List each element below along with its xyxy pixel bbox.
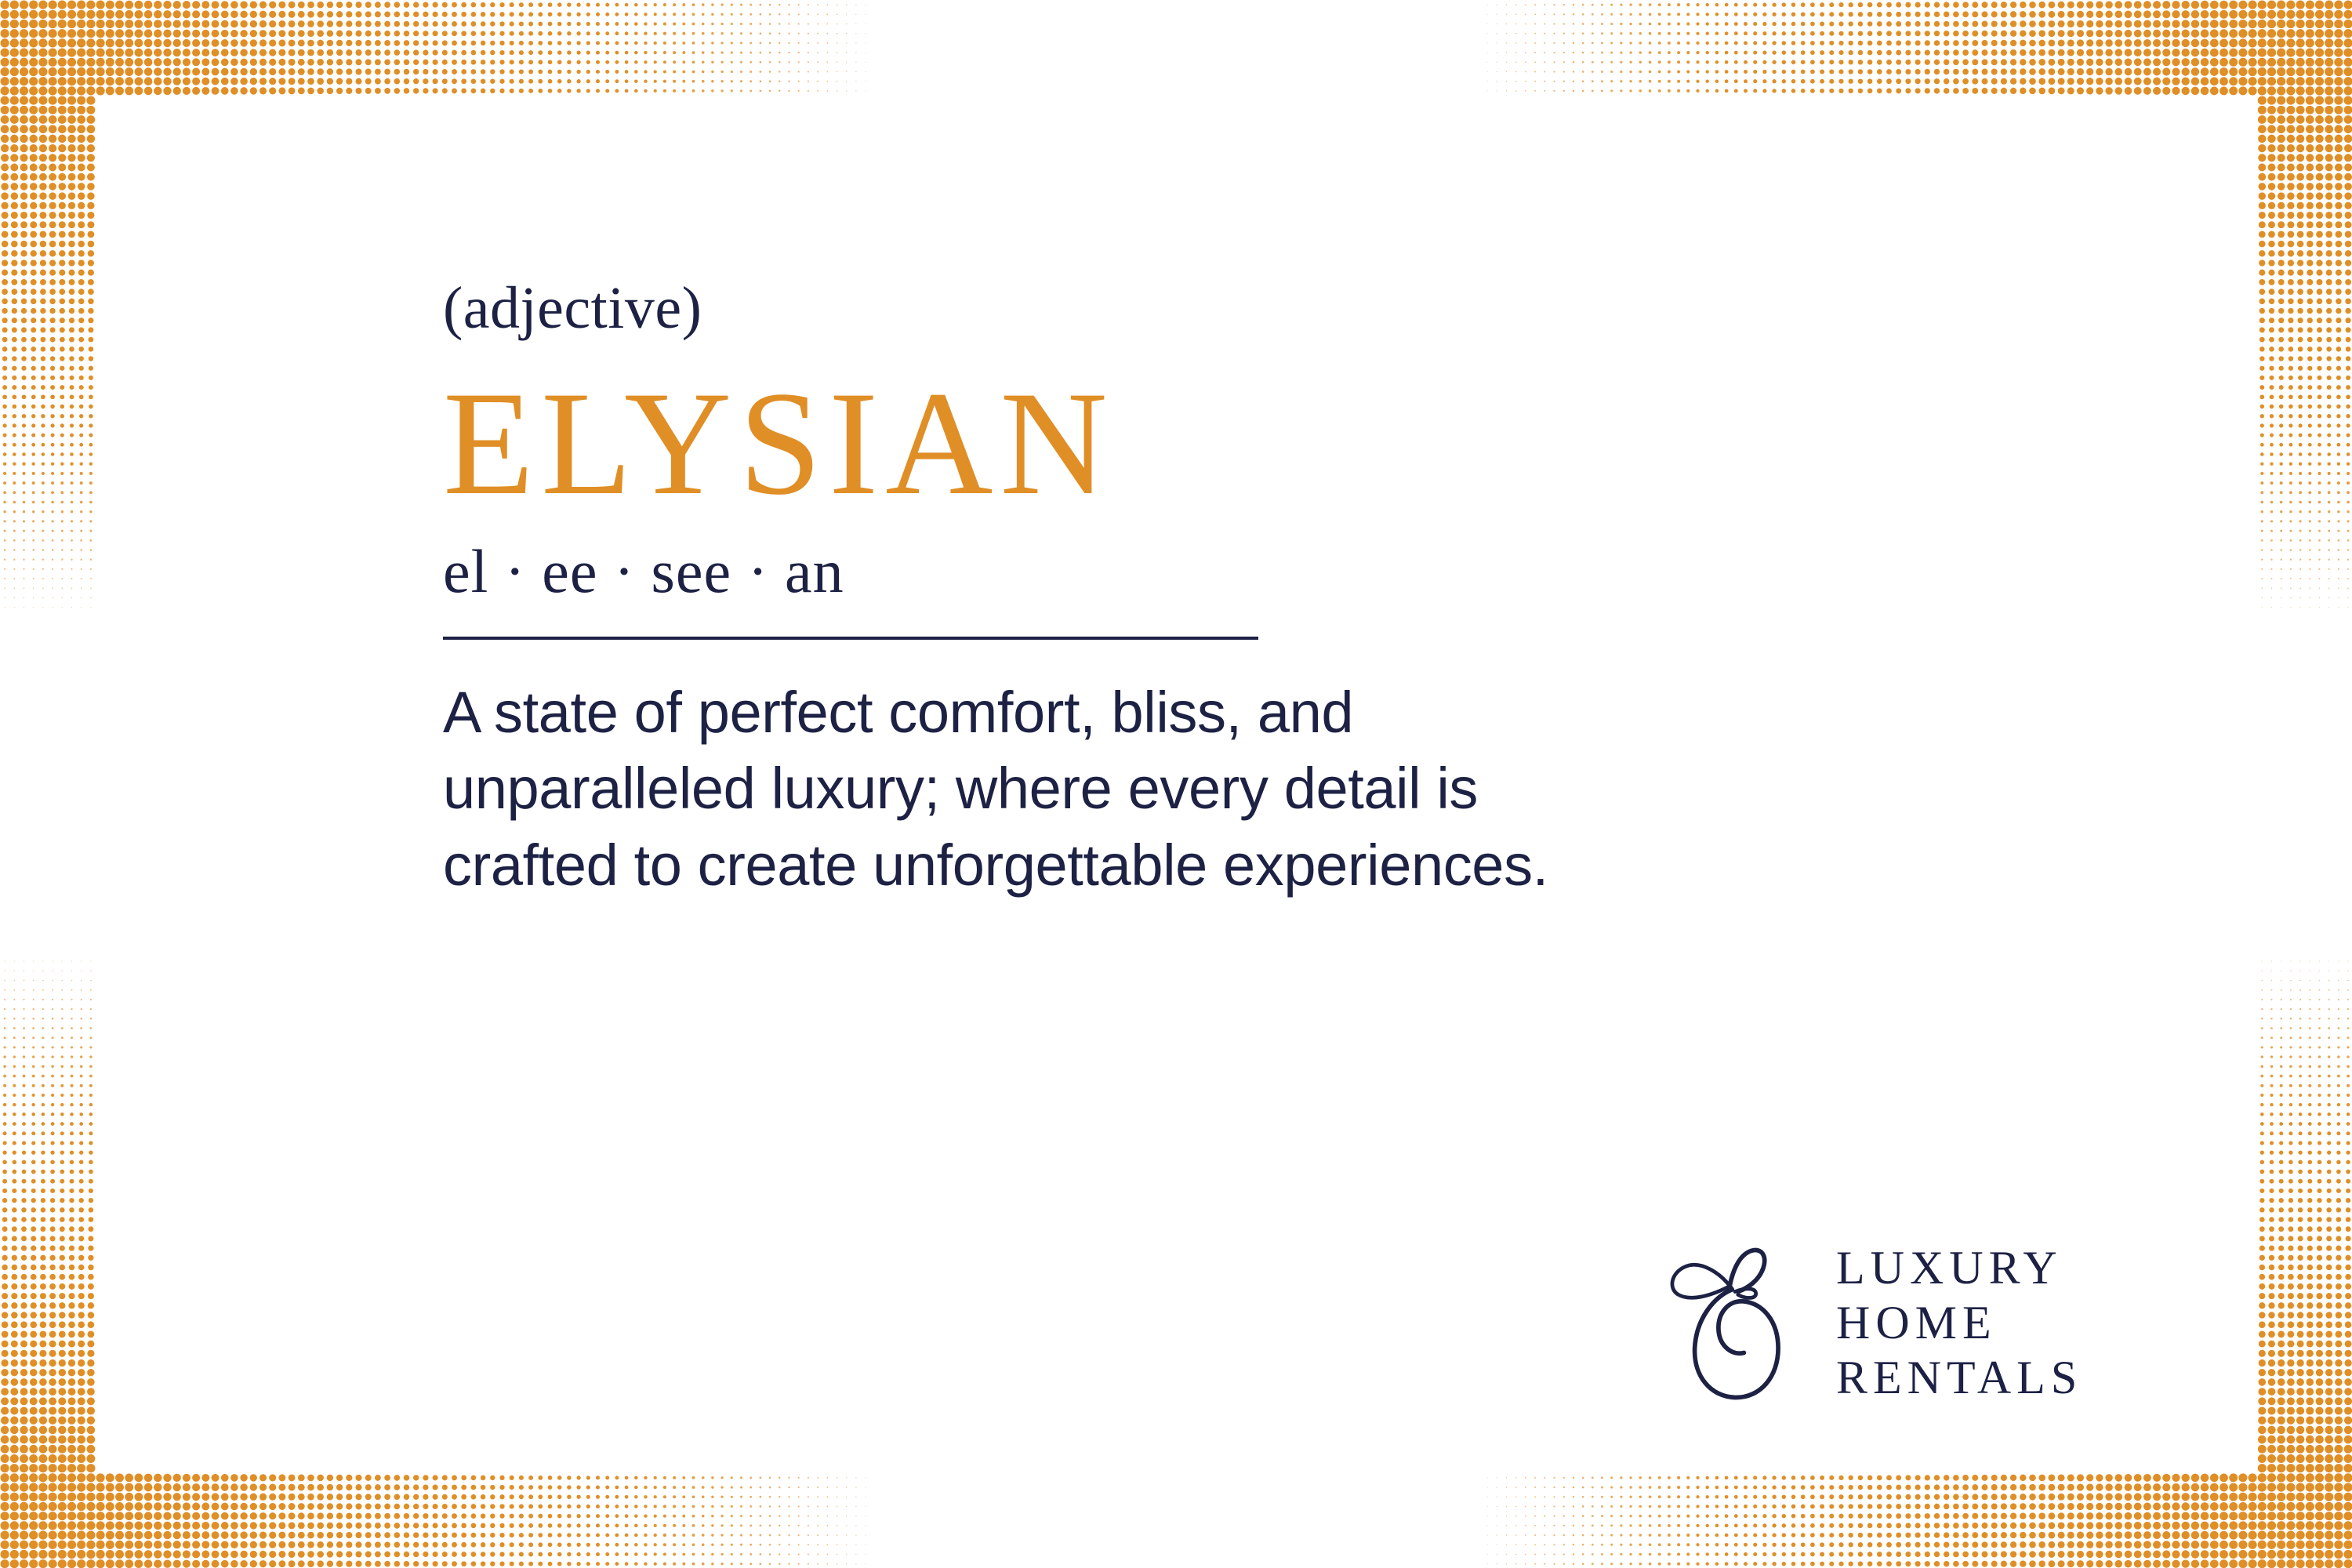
logo-wordmark: LUXURY HOME RENTALS — [1836, 1240, 2082, 1406]
logo-line-home: HOME — [1836, 1295, 2082, 1350]
part-of-speech-label: (adjective) — [443, 278, 2168, 338]
pronunciation-text: el · ee · see · an — [443, 541, 2168, 602]
headword-title: ELYSIAN — [443, 374, 2168, 514]
definition-card: (adjective) ELYSIAN el · ee · see · an A… — [0, 0, 2352, 1568]
brand-logo: LUXURY HOME RENTALS — [1661, 1240, 2082, 1406]
logo-line-rentals: RENTALS — [1836, 1350, 2082, 1405]
definition-text: A state of perfect comfort, bliss, and u… — [443, 674, 1635, 904]
divider-rule — [443, 637, 1258, 640]
script-e-monogram-icon — [1661, 1240, 1809, 1405]
logo-line-luxury: LUXURY — [1836, 1240, 2082, 1295]
card-content: (adjective) ELYSIAN el · ee · see · an A… — [443, 278, 2168, 904]
